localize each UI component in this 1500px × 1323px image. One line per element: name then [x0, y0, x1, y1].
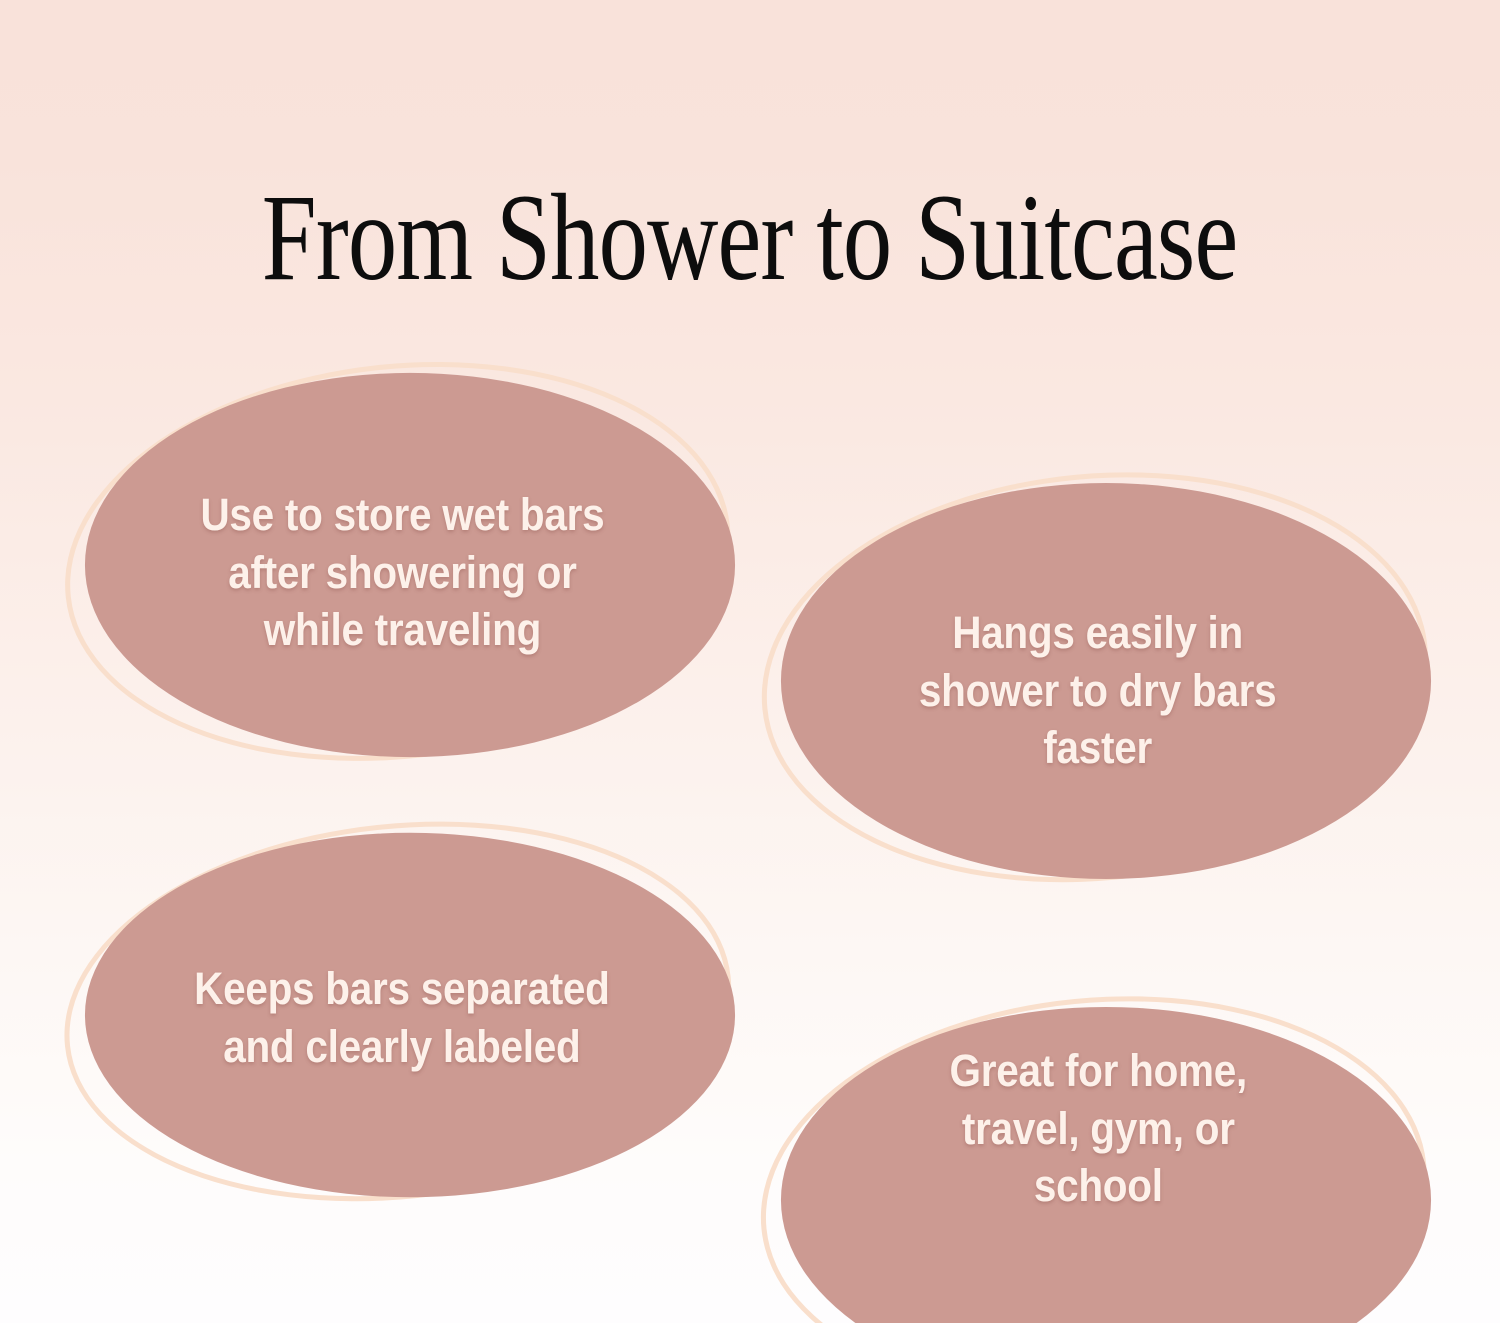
benefit-line: travel, gym, or: [962, 1103, 1235, 1154]
benefit-line: Keeps bars separated: [194, 963, 610, 1014]
benefit-line: after showering or: [228, 547, 576, 598]
benefit-label-1: Use to store wet bars after showering or…: [72, 486, 732, 659]
benefit-line: Use to store wet bars: [200, 489, 604, 540]
page-title-text: From Shower to Suitcase: [262, 176, 1238, 300]
benefit-label-2: Hangs easily in shower to dry bars faste…: [768, 604, 1428, 777]
benefit-line: and clearly labeled: [223, 1021, 580, 1072]
benefit-line: school: [1034, 1160, 1163, 1211]
benefit-line: while traveling: [263, 604, 540, 655]
page-title: From Shower to Suitcase: [0, 176, 1500, 300]
benefit-label-3: Keeps bars separated and clearly labeled: [72, 960, 732, 1075]
benefit-bubble-great-for-home-travel: Great for home, travel, gym, or school: [768, 1002, 1428, 1323]
benefit-label-4: Great for home, travel, gym, or school: [768, 1042, 1428, 1215]
benefit-bubble-hangs-in-shower: Hangs easily in shower to dry bars faste…: [768, 478, 1428, 880]
benefit-line: faster: [1044, 722, 1153, 773]
benefit-line: shower to dry bars: [919, 665, 1276, 716]
infographic-canvas: From Shower to Suitcase Use to store wet…: [0, 0, 1500, 1323]
benefit-bubble-store-wet-bars: Use to store wet bars after showering or…: [72, 368, 732, 758]
benefit-bubble-keeps-bars-separated: Keeps bars separated and clearly labeled: [72, 828, 732, 1198]
benefit-line: Hangs easily in: [953, 607, 1244, 658]
benefit-line: Great for home,: [949, 1045, 1247, 1096]
